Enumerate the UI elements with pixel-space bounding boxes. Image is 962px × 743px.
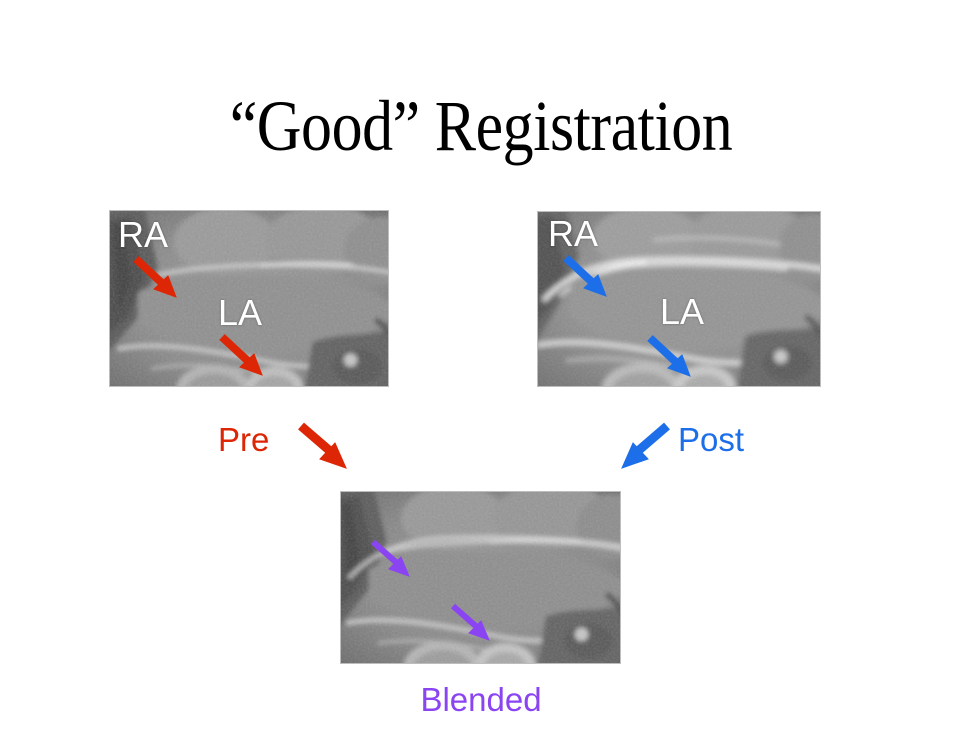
scan-panel-blended[interactable] — [341, 492, 620, 663]
marker-arrow-ra-blended — [365, 534, 423, 582]
anat-label-la-pre: LA — [218, 295, 262, 331]
caption-post: Post — [678, 422, 744, 458]
caption-blended: Blended — [0, 682, 962, 718]
anat-label-la-post: LA — [660, 294, 704, 330]
marker-arrow-la-pre — [214, 329, 276, 381]
caption-pre: Pre — [218, 422, 269, 458]
flow-arrow-post-to-blended — [612, 418, 676, 474]
anat-label-ra-post: RA — [548, 216, 598, 252]
marker-arrow-la-blended — [445, 598, 503, 646]
flow-arrow-pre-to-blended — [292, 418, 356, 474]
marker-arrow-ra-post — [558, 250, 620, 302]
marker-arrow-la-post — [642, 330, 704, 382]
scan-panel-pre[interactable]: RA LA — [110, 211, 388, 386]
page-title: “Good” Registration — [67, 86, 894, 166]
scan-panel-post[interactable]: RA LA — [538, 212, 820, 386]
anat-label-ra-pre: RA — [118, 217, 168, 253]
marker-arrow-ra-pre — [128, 251, 190, 303]
